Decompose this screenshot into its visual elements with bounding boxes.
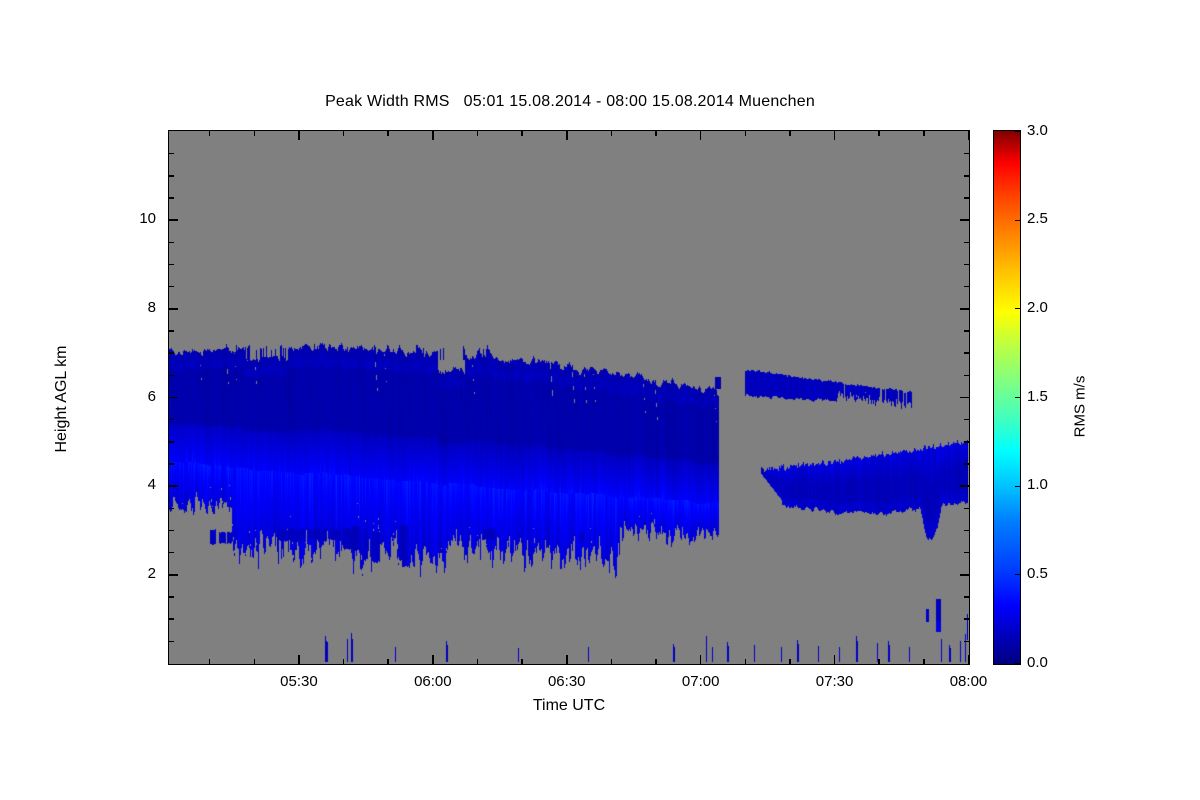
y-tick-minor — [964, 552, 969, 554]
y-tick-minor — [964, 508, 969, 510]
y-tick-minor — [964, 352, 969, 354]
y-tick-minor — [964, 197, 969, 199]
y-tick-minor — [169, 508, 174, 510]
y-tick-major — [960, 219, 969, 221]
x-tick-major — [566, 131, 568, 140]
x-tick-label: 07:30 — [795, 673, 875, 690]
y-tick-minor — [169, 175, 174, 177]
x-tick-minor — [387, 659, 389, 664]
y-tick-major — [169, 397, 178, 399]
y-tick-minor — [169, 641, 174, 643]
y-tick-minor — [169, 242, 174, 244]
x-tick-minor — [611, 131, 613, 136]
colorbar-title: RMS m/s — [1072, 327, 1089, 487]
x-tick-minor — [343, 131, 345, 136]
x-tick-major — [298, 655, 300, 664]
y-tick-minor — [964, 375, 969, 377]
y-tick-minor — [964, 596, 969, 598]
y-tick-minor — [169, 197, 174, 199]
colorbar-tick-label: 3.0 — [1027, 122, 1087, 139]
colorbar-tick-label: 2.0 — [1027, 299, 1087, 316]
y-tick-minor — [169, 596, 174, 598]
y-tick-minor — [169, 463, 174, 465]
x-tick-major — [834, 655, 836, 664]
y-tick-minor — [169, 419, 174, 421]
x-tick-major — [566, 655, 568, 664]
colorbar-tick-label: 0.5 — [1027, 565, 1087, 582]
colorbar-tick — [1015, 220, 1020, 221]
y-tick-major — [169, 219, 178, 221]
y-tick-minor — [169, 618, 174, 620]
y-tick-minor — [169, 530, 174, 532]
x-tick-minor — [745, 659, 747, 664]
y-tick-minor — [169, 286, 174, 288]
y-tick-minor — [964, 330, 969, 332]
y-tick-minor — [169, 352, 174, 354]
colorbar-tick — [1015, 131, 1020, 132]
x-tick-minor — [209, 659, 211, 664]
y-tick-minor — [964, 242, 969, 244]
y-tick-major — [169, 574, 178, 576]
x-tick-minor — [254, 659, 256, 664]
chart-title: Peak Width RMS 05:01 15.08.2014 - 08:00 … — [0, 93, 1140, 111]
x-tick-minor — [387, 131, 389, 136]
x-tick-minor — [254, 131, 256, 136]
y-tick-label: 8 — [116, 299, 156, 316]
x-tick-major — [834, 131, 836, 140]
y-tick-minor — [169, 441, 174, 443]
y-tick-major — [169, 485, 178, 487]
x-tick-minor — [477, 659, 479, 664]
y-tick-minor — [169, 153, 174, 155]
x-tick-minor — [611, 659, 613, 664]
x-tick-major — [432, 655, 434, 664]
heatmap-canvas — [169, 131, 968, 663]
colorbar-tick — [1015, 308, 1020, 309]
y-tick-minor — [964, 463, 969, 465]
x-tick-minor — [655, 659, 657, 664]
y-tick-minor — [169, 375, 174, 377]
x-tick-minor — [209, 131, 211, 136]
plot-area — [168, 130, 970, 665]
y-tick-label: 6 — [116, 388, 156, 405]
y-tick-major — [169, 308, 178, 310]
x-tick-label: 05:30 — [259, 673, 339, 690]
x-tick-label: 06:30 — [527, 673, 607, 690]
x-tick-minor — [343, 659, 345, 664]
y-tick-label: 2 — [116, 565, 156, 582]
x-tick-minor — [745, 131, 747, 136]
y-axis-title: Height AGL km — [53, 319, 71, 479]
x-tick-major — [700, 131, 702, 140]
x-axis-title: Time UTC — [369, 697, 769, 715]
y-tick-major — [960, 308, 969, 310]
colorbar-tick — [1015, 486, 1020, 487]
figure-root: Peak Width RMS 05:01 15.08.2014 - 08:00 … — [0, 0, 1200, 800]
y-tick-minor — [964, 153, 969, 155]
x-tick-major — [298, 131, 300, 140]
x-tick-minor — [923, 659, 925, 664]
x-tick-label: 07:00 — [661, 673, 741, 690]
x-tick-major — [968, 131, 970, 140]
x-tick-minor — [789, 131, 791, 136]
y-tick-major — [960, 574, 969, 576]
y-tick-minor — [964, 286, 969, 288]
y-tick-label: 10 — [116, 210, 156, 227]
x-tick-label: 08:00 — [929, 673, 1009, 690]
y-tick-minor — [964, 530, 969, 532]
y-tick-minor — [169, 264, 174, 266]
y-tick-major — [960, 485, 969, 487]
y-tick-major — [960, 397, 969, 399]
y-tick-minor — [169, 552, 174, 554]
colorbar-tick — [1015, 574, 1020, 575]
x-tick-minor — [477, 131, 479, 136]
y-tick-minor — [169, 330, 174, 332]
colorbar-tick-label: 2.5 — [1027, 210, 1087, 227]
x-tick-minor — [789, 659, 791, 664]
x-tick-major — [432, 131, 434, 140]
colorbar-tick — [1015, 397, 1020, 398]
x-tick-major — [700, 655, 702, 664]
x-tick-minor — [878, 131, 880, 136]
x-tick-major — [968, 655, 970, 664]
x-tick-minor — [521, 659, 523, 664]
y-tick-minor — [964, 419, 969, 421]
x-tick-minor — [878, 659, 880, 664]
y-tick-minor — [964, 641, 969, 643]
colorbar-tick — [1015, 663, 1020, 664]
y-tick-minor — [964, 264, 969, 266]
colorbar-tick-label: 0.0 — [1027, 654, 1087, 671]
y-tick-minor — [964, 618, 969, 620]
x-tick-minor — [655, 131, 657, 136]
x-tick-label: 06:00 — [393, 673, 473, 690]
x-tick-minor — [923, 131, 925, 136]
y-tick-label: 4 — [116, 476, 156, 493]
y-tick-minor — [964, 441, 969, 443]
y-tick-minor — [964, 175, 969, 177]
x-tick-minor — [521, 131, 523, 136]
